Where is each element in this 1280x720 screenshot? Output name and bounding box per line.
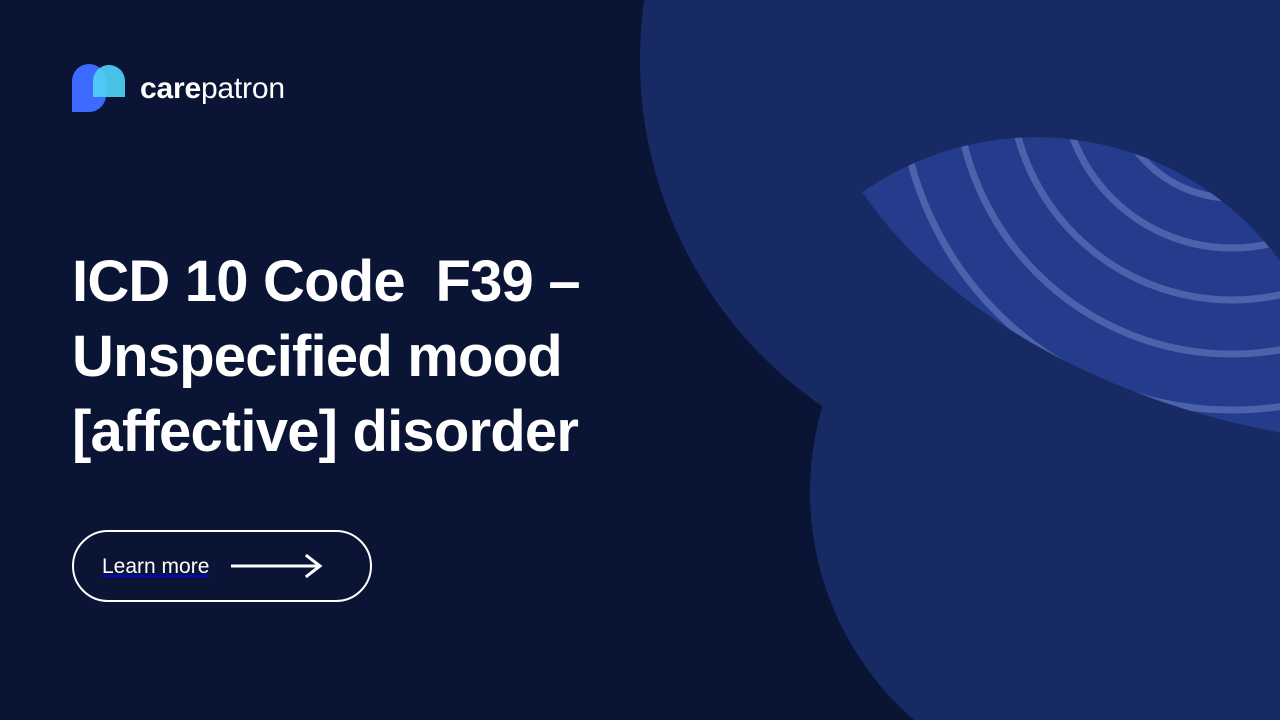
banner-root: carepatron ICD 10 Code F39 – Unspecified… <box>0 0 1280 720</box>
carepatron-logo[interactable]: carepatron <box>70 62 285 114</box>
top-right-navy-circle <box>640 0 1280 480</box>
bottom-right-navy-circle <box>810 190 1280 720</box>
lens-fill <box>700 0 1280 560</box>
carepatron-wordmark: carepatron <box>140 74 285 104</box>
arrow-right-icon <box>231 554 325 578</box>
logo-shape-cyan <box>93 65 125 97</box>
page-title: ICD 10 Code F39 – Unspecified mood [affe… <box>72 245 712 469</box>
learn-more-button[interactable]: Learn more <box>72 530 372 602</box>
learn-more-label: Learn more <box>102 556 209 577</box>
wordmark-light: patron <box>201 72 285 105</box>
carepatron-logo-mark <box>70 62 127 114</box>
wordmark-bold: care <box>140 72 201 105</box>
